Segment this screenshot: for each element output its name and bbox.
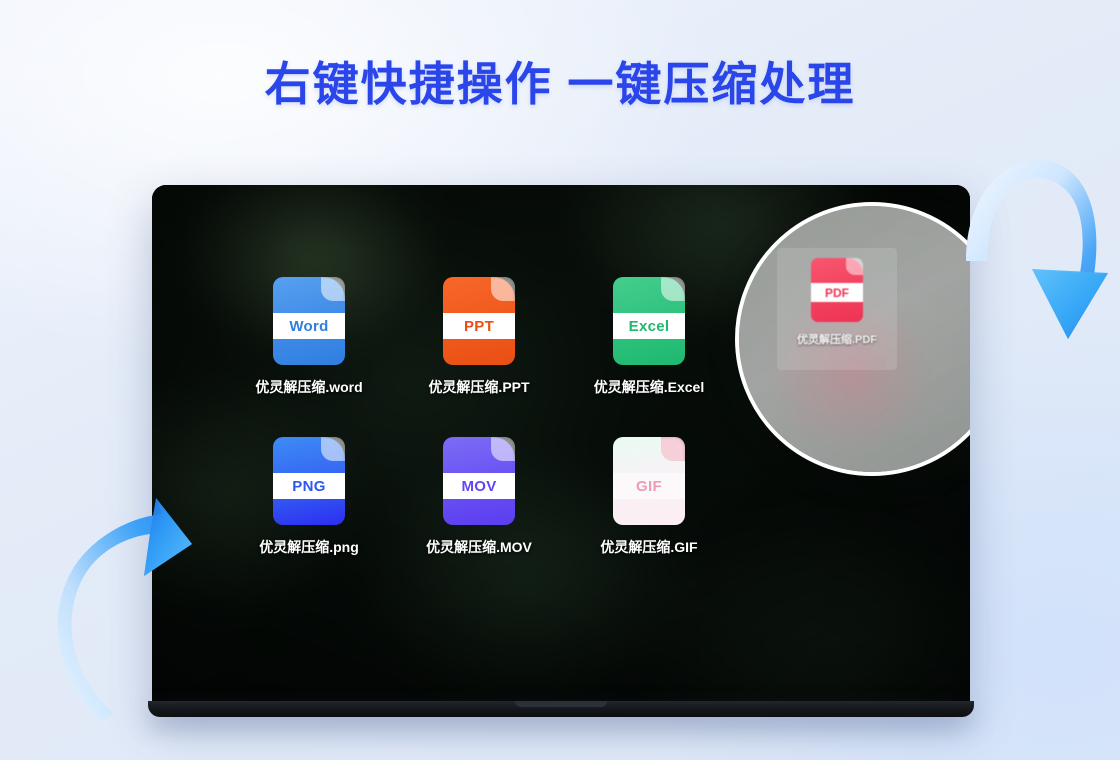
gif-file-icon-label: GIF xyxy=(613,473,685,499)
selected-file-pdf[interactable]: PDF 优灵解压缩.PDF xyxy=(777,248,897,370)
desktop-file-word[interactable]: Word 优灵解压缩.word xyxy=(224,277,394,437)
desktop-file-png[interactable]: PNG 优灵解压缩.png xyxy=(224,437,394,597)
laptop-screen: Word 优灵解压缩.word PPT 优灵解压缩.PPT Excel 优 xyxy=(152,185,970,708)
desktop-file-label: 优灵解压缩.MOV xyxy=(426,537,532,557)
excel-file-icon: Excel xyxy=(613,277,685,365)
pdf-file-icon-label: PDF xyxy=(811,283,863,302)
desktop-file-label: 优灵解压缩.PPT xyxy=(428,377,529,397)
desktop-file-excel[interactable]: Excel 优灵解压缩.Excel xyxy=(564,277,734,437)
png-file-icon: PNG xyxy=(273,437,345,525)
desktop-file-mov[interactable]: MOV 优灵解压缩.MOV xyxy=(394,437,564,597)
png-file-icon-label: PNG xyxy=(273,473,345,499)
ppt-file-icon-label: PPT xyxy=(443,313,515,339)
desktop-file-label: 优灵解压缩.png xyxy=(259,537,359,557)
desktop-file-ppt[interactable]: PPT 优灵解压缩.PPT xyxy=(394,277,564,437)
desktop-file-gif[interactable]: GIF 优灵解压缩.GIF xyxy=(564,437,734,597)
mov-file-icon-label: MOV xyxy=(443,473,515,499)
laptop-notch xyxy=(515,701,607,707)
word-file-icon-label: Word xyxy=(273,313,345,339)
desktop-file-label: 优灵解压缩.GIF xyxy=(600,537,697,557)
magnifier-lens: PDF 优灵解压缩.PDF xyxy=(739,206,970,472)
gif-file-icon: GIF xyxy=(613,437,685,525)
desktop-icon-grid: Word 优灵解压缩.word PPT 优灵解压缩.PPT Excel 优 xyxy=(224,277,784,597)
curved-arrow-down-right-icon xyxy=(962,143,1112,393)
page-title: 右键快捷操作 一键压缩处理 xyxy=(0,54,1120,114)
mov-file-icon: MOV xyxy=(443,437,515,525)
ppt-file-icon: PPT xyxy=(443,277,515,365)
desktop-file-label: 优灵解压缩.Excel xyxy=(594,377,704,397)
excel-file-icon-label: Excel xyxy=(613,313,685,339)
word-file-icon: Word xyxy=(273,277,345,365)
laptop-mockup: Word 优灵解压缩.word PPT 优灵解压缩.PPT Excel 优 xyxy=(152,185,970,725)
pdf-file-icon: PDF xyxy=(811,258,863,322)
desktop-file-label: 优灵解压缩.word xyxy=(255,377,362,397)
selected-file-label: 优灵解压缩.PDF xyxy=(797,331,877,347)
